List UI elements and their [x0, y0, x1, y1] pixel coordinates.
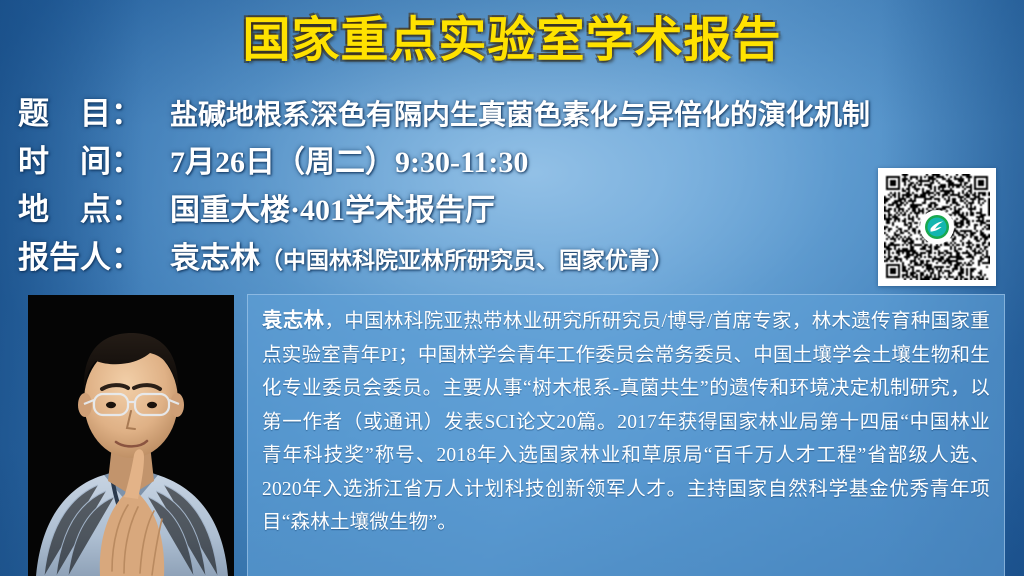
info-value-time: 7月26日（周二）9:30-11:30 [170, 137, 528, 181]
speaker-bio-panel: 袁志林，中国林科院亚热带林业研究所研究员/博导/首席专家，林木遗传育种国家重点实… [247, 294, 1005, 576]
info-label-time: 时 间： [18, 136, 170, 181]
info-label-speaker: 报告人： [18, 232, 170, 277]
page-title: 国家重点实验室学术报告 [0, 6, 1024, 76]
speaker-name: 袁志林 [170, 242, 260, 275]
info-row-place: 地 点： 国重大楼·401学术报告厅 [18, 184, 870, 232]
info-row-time: 时 间： 7月26日（周二）9:30-11:30 [18, 136, 870, 184]
info-row-topic: 题 目： 盐碱地根系深色有隔内生真菌色素化与异倍化的演化机制 [18, 88, 870, 136]
info-value-place: 国重大楼·401学术报告厅 [170, 185, 495, 229]
info-row-speaker: 报告人： 袁志林（中国林科院亚林所研究员、国家优青） [18, 232, 870, 280]
bio-speaker-name: 袁志林 [262, 310, 324, 332]
speaker-portrait-photo [28, 295, 234, 576]
info-value-topic: 盐碱地根系深色有隔内生真菌色素化与异倍化的演化机制 [170, 93, 870, 133]
seminar-info-block: 题 目： 盐碱地根系深色有隔内生真菌色素化与异倍化的演化机制 时 间： 7月26… [18, 88, 870, 280]
seminar-poster: 国家重点实验室学术报告 题 目： 盐碱地根系深色有隔内生真菌色素化与异倍化的演化… [0, 0, 1024, 576]
info-label-place: 地 点： [18, 184, 170, 229]
qr-code-icon [884, 174, 990, 280]
green-circle-logo-icon [922, 212, 952, 242]
info-value-speaker: 袁志林（中国林科院亚林所研究员、国家优青） [170, 233, 674, 277]
speaker-bio-text: 袁志林，中国林科院亚热带林业研究所研究员/博导/首席专家，林木遗传育种国家重点实… [262, 305, 990, 540]
qr-code[interactable] [878, 168, 996, 286]
info-label-topic: 题 目： [18, 88, 170, 133]
bio-body: ，中国林科院亚热带林业研究所研究员/博导/首席专家，林木遗传育种国家重点实验室青… [262, 311, 990, 533]
speaker-affiliation: （中国林科院亚林所研究员、国家优青） [260, 248, 674, 273]
